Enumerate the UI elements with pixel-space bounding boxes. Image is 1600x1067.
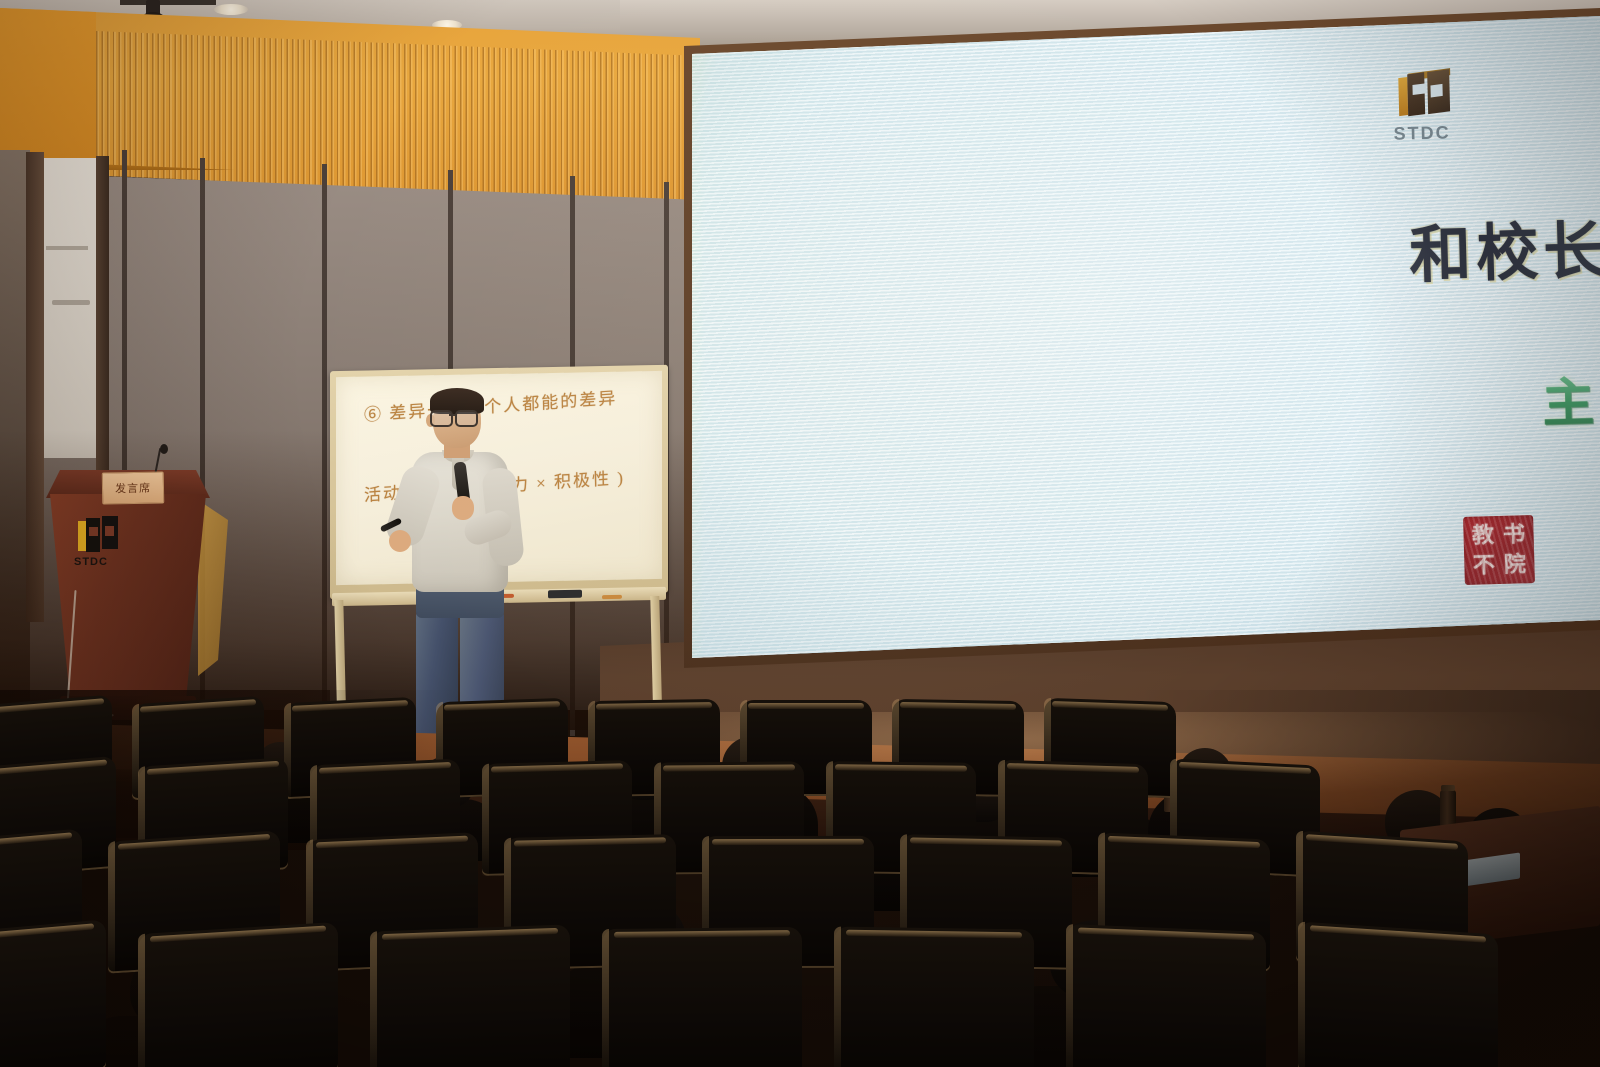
wood-slat-texture: [96, 26, 700, 202]
ceiling-downlight-icon: [214, 4, 248, 15]
auditorium-seat: [370, 924, 570, 1067]
microphone-head-icon: [160, 444, 168, 454]
audience-seating: [0, 690, 1600, 1067]
stdc-logo-icon: [78, 518, 120, 556]
auditorium-seat: [834, 927, 1034, 1067]
auditorium-seat: [0, 919, 106, 1067]
auditorium-seat: [1298, 921, 1498, 1067]
door-hardware: [46, 246, 88, 250]
marker-icon: [602, 595, 622, 599]
lighting-track: [120, 0, 216, 5]
presenter-hand-mic: [452, 496, 474, 520]
eyeglasses-icon: [430, 410, 476, 423]
presenter-hand-marker: [389, 530, 411, 552]
lectern-logo-text: STDC: [74, 556, 108, 568]
eraser-icon: [548, 590, 582, 599]
eyeglasses-bridge: [449, 414, 457, 416]
auditorium-seat: [138, 922, 338, 1067]
auditorium-seat: [602, 927, 802, 1067]
doorway-opening: [40, 158, 102, 458]
auditorium-seat: [1066, 924, 1266, 1067]
projection-screen: STDC 和校长们谈谈应用心理学 主讲人：张 翔 教 书 不 院 苏州市教师发展…: [664, 8, 1600, 668]
door-handle-icon: [52, 300, 90, 305]
auditorium-photo: STDC 和校长们谈谈应用心理学 主讲人：张 翔 教 书 不 院 苏州市教师发展…: [0, 0, 1600, 1067]
lectern-sign-label: 发言席: [115, 480, 151, 497]
screen-vignette: [664, 8, 1600, 668]
lectern-sign: 发言席: [102, 471, 165, 504]
